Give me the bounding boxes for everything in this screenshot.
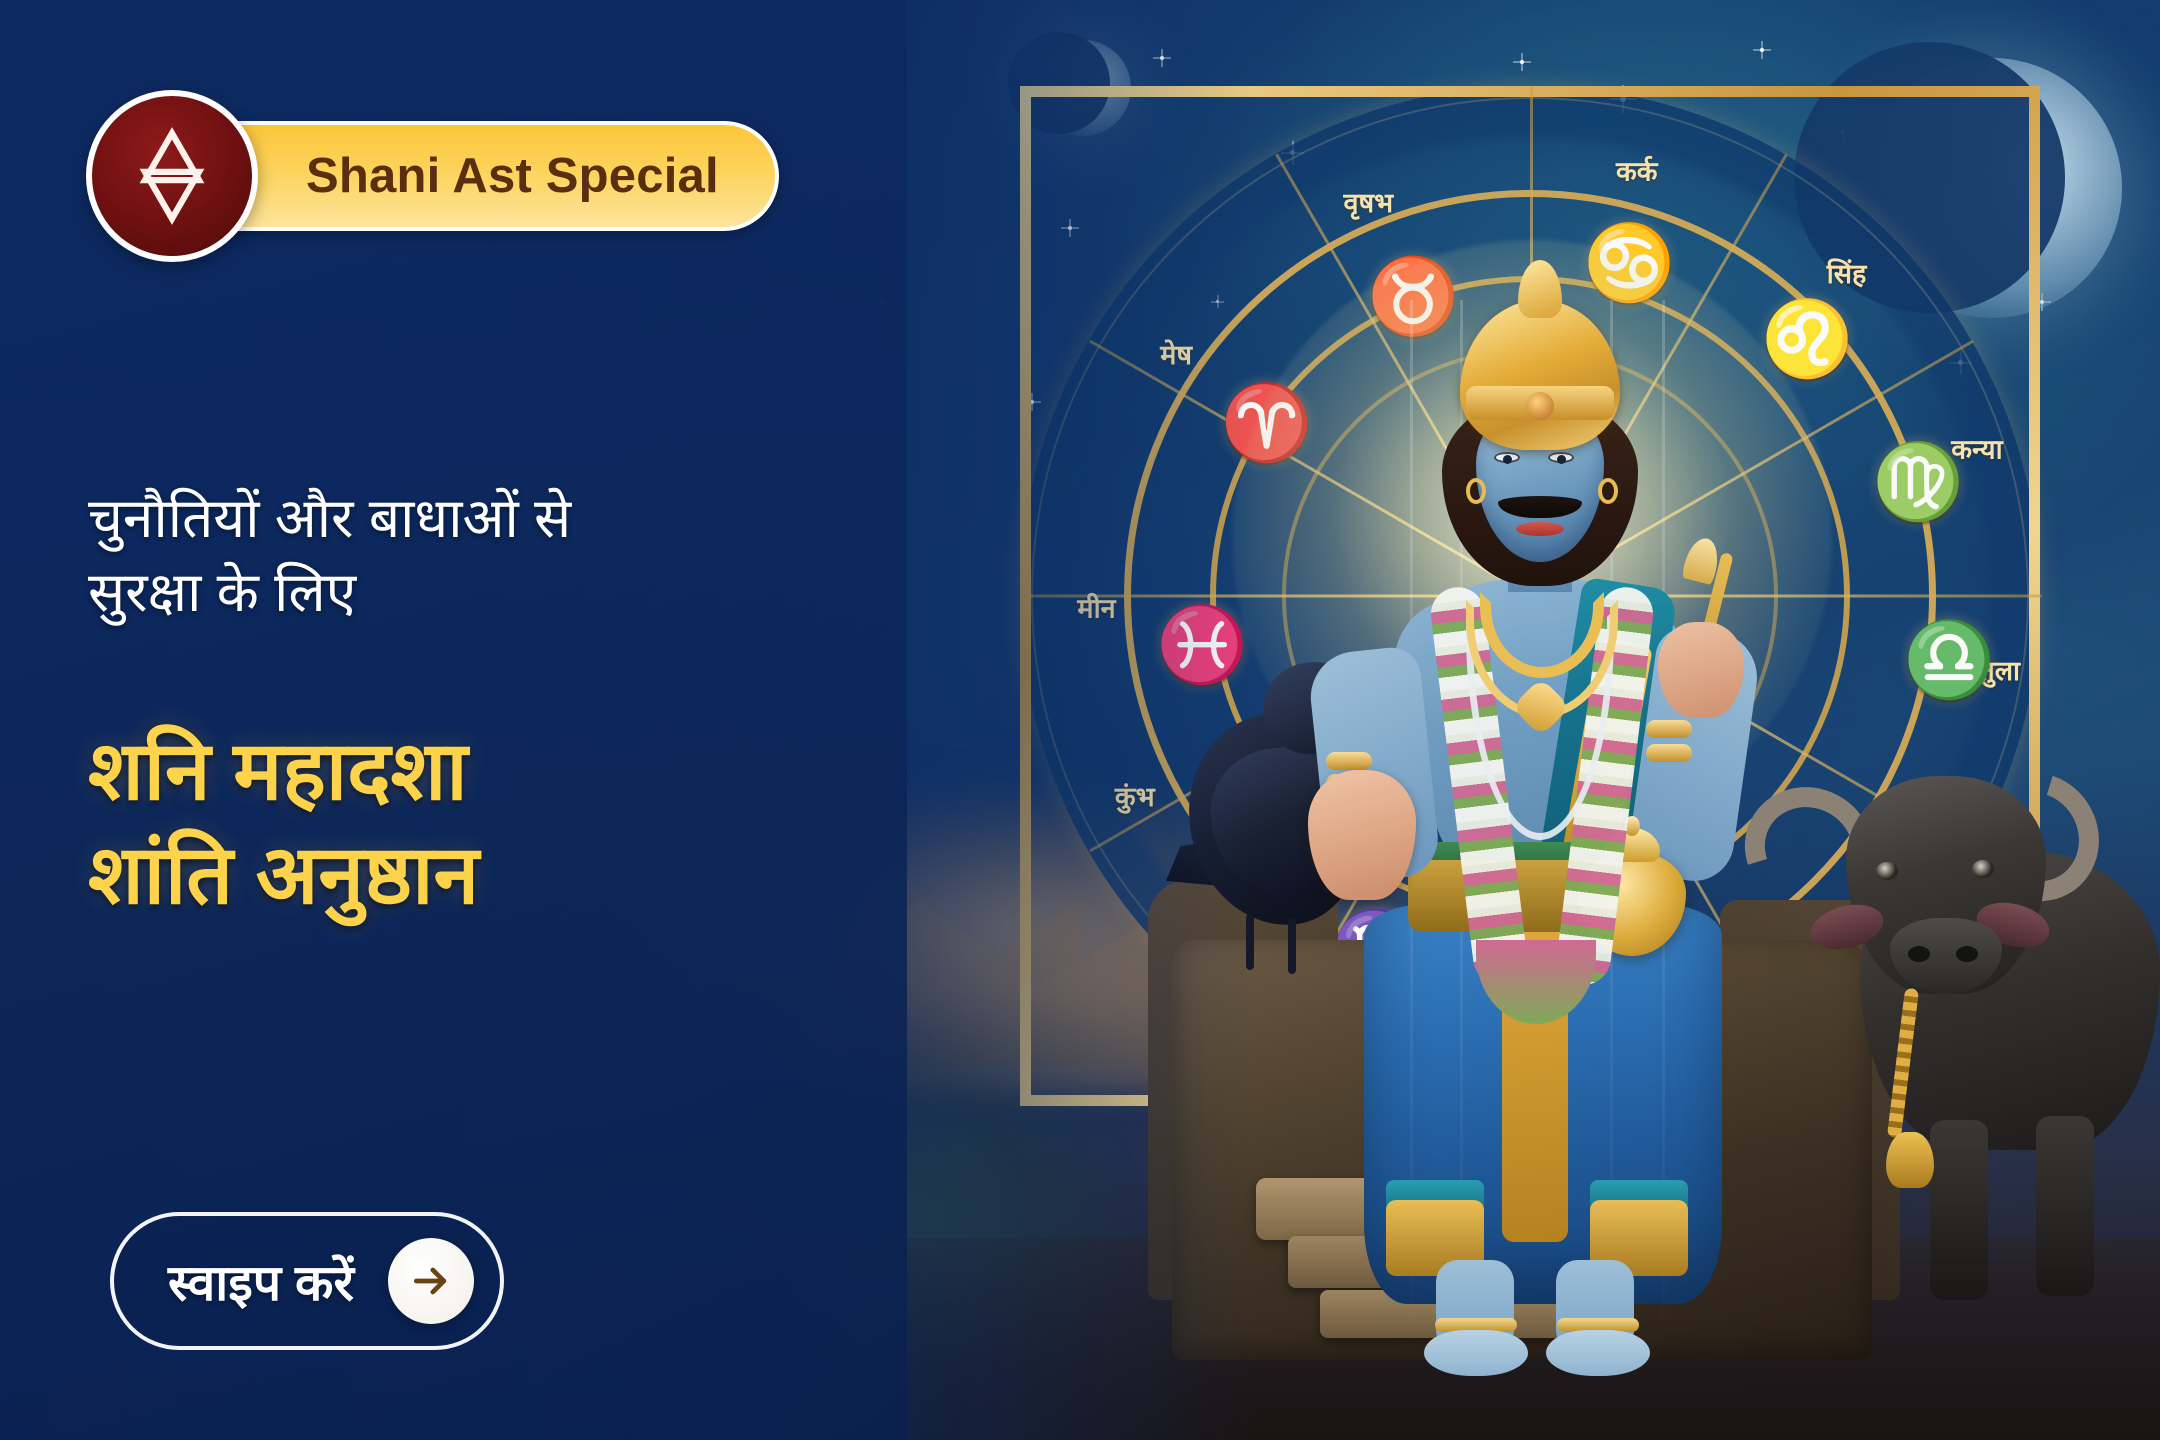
shatkona-star-icon [120,124,224,228]
abhaya-mudra-palm [1308,770,1416,900]
golden-crown [1460,300,1620,450]
buffalo-eye [1876,862,1898,880]
badge-pill: Shani Ast Special [182,121,779,231]
shani-dev-figure [1290,300,1790,1360]
deity-right-hand [1658,622,1744,718]
zodiac-label-karka: कर्क [1616,152,1657,189]
special-badge[interactable]: Shani Ast Special [86,116,779,236]
zodiac-label-simha: सिंह [1827,254,1867,291]
swipe-label: स्वाइप करें [168,1247,354,1315]
earring [1598,478,1618,504]
star [1760,48,1764,52]
buffalo-bell-icon [1886,1132,1934,1188]
swipe-cta-button[interactable]: स्वाइप करें [110,1212,504,1350]
subheading: चुनौतियों और बाधाओं से सुरक्षा के लिए [88,482,788,629]
buffalo-vahana [1790,730,2160,1290]
zodiac-glyph-libra: ♎ [1903,623,1995,697]
shani-promo-banner: मेष वृषभ कर्क सिंह कन्या तुला मीन कुंभ म… [0,0,2160,1440]
earring [1466,478,1486,504]
zodiac-glyph-virgo: ♍ [1872,445,1964,519]
star [1520,60,1524,64]
headline: शनि महादशा शांति अनुष्ठान [88,720,808,928]
arrow-right-icon [409,1259,453,1303]
deity-foot [1424,1330,1528,1376]
swipe-arrow-circle[interactable] [388,1238,474,1324]
headline-line-1: शनि महादशा [88,720,808,824]
deity-foot [1546,1330,1650,1376]
buffalo-eye [1972,860,1994,878]
badge-logo-circle [86,90,258,262]
zodiac-label-vrishabh: वृषभ [1343,183,1393,220]
subheading-line-1: चुनौतियों और बाधाओं से [88,482,788,556]
badge-label: Shani Ast Special [306,148,719,204]
headline-line-2: शांति अनुष्ठान [88,824,808,928]
subheading-line-2: सुरक्षा के लिए [88,556,788,630]
